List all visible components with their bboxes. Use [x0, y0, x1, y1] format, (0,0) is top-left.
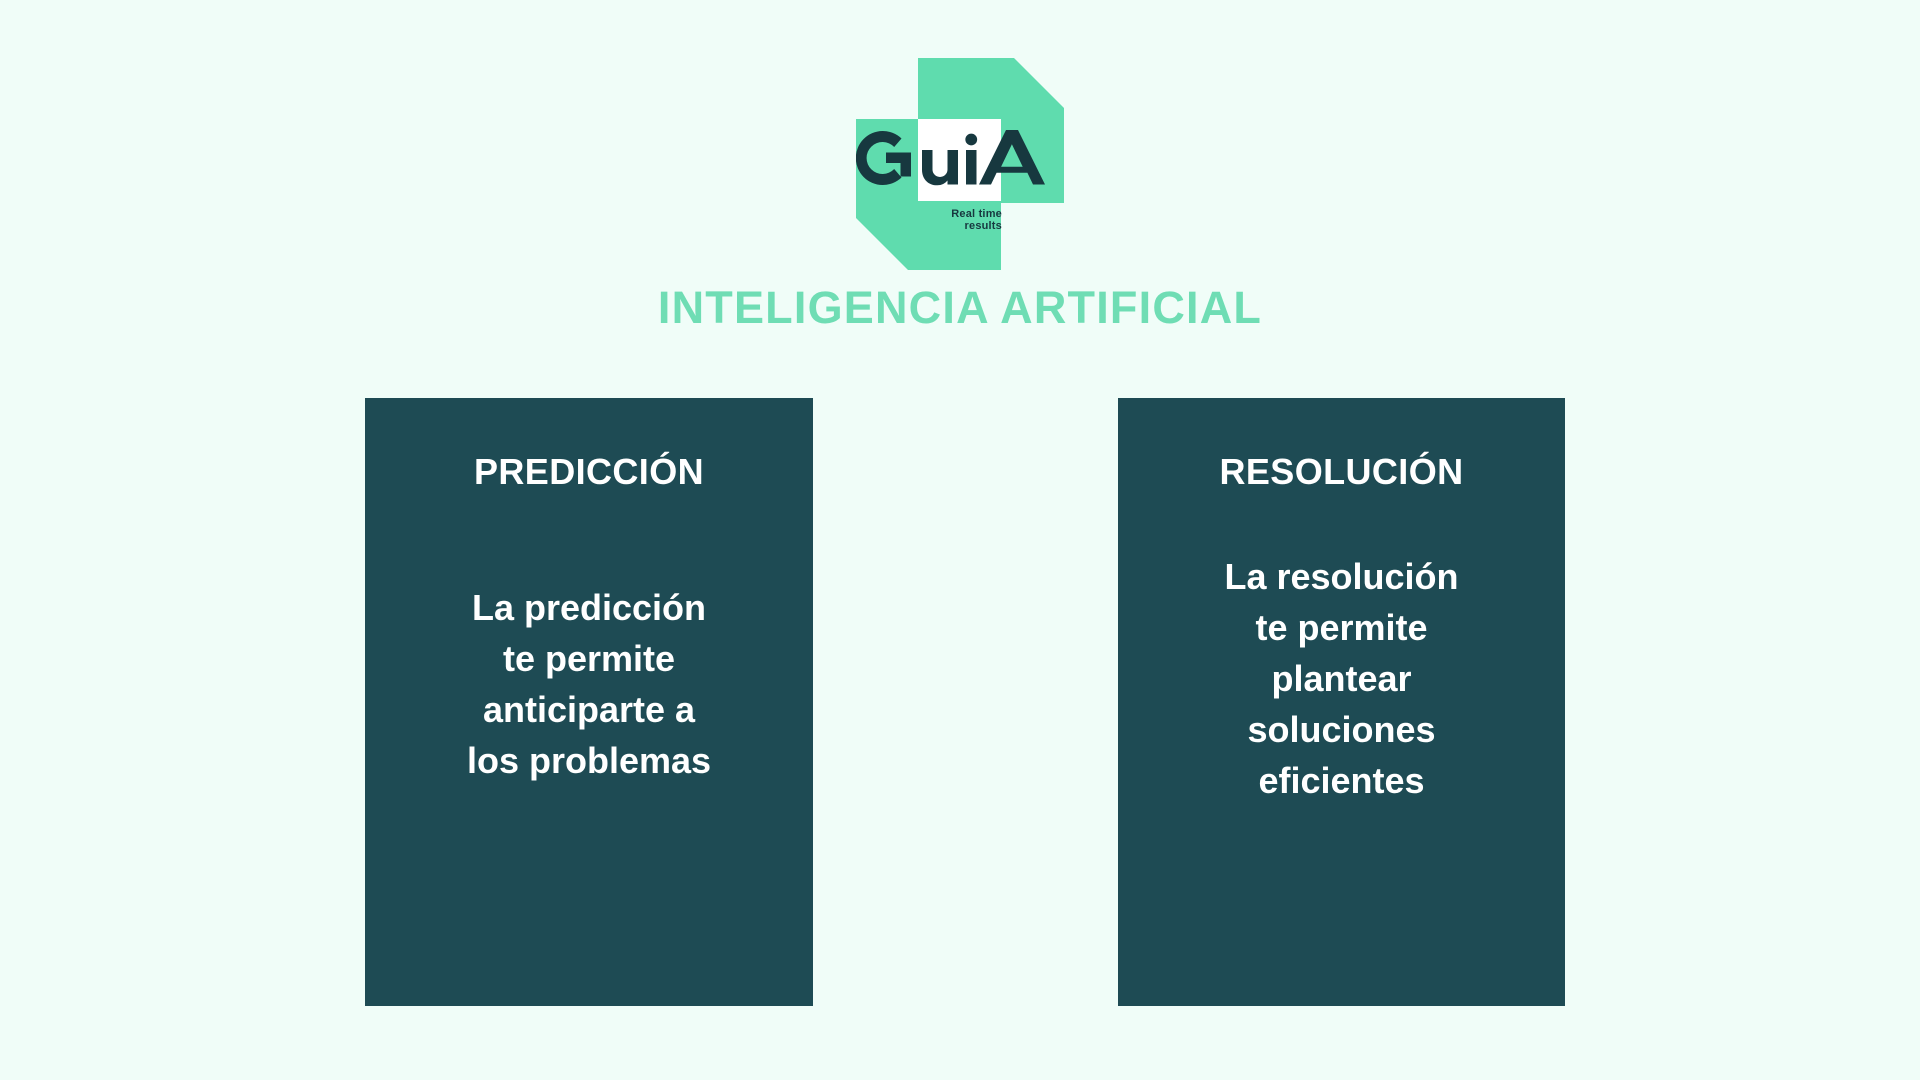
card-resolucion[interactable]: RESOLUCIÓN La resolución te permite plan… [1118, 398, 1565, 1006]
card-title-prediccion: PREDICCIÓN [474, 450, 704, 494]
card-body-resolucion: La resolución te permite plantear soluci… [1224, 551, 1458, 806]
slide-canvas: Real time results INTELIGENCIA ARTIFICIA… [0, 0, 1920, 1080]
card-prediccion[interactable]: PREDICCIÓN La predicción te permite anti… [365, 398, 813, 1006]
guia-logo[interactable]: Real time results [856, 58, 1064, 270]
logo-tagline: Real time results [951, 208, 1002, 232]
logo-block: Real time results [0, 58, 1920, 270]
guia-wordmark-icon [856, 110, 1064, 206]
page-title: INTELIGENCIA ARTIFICIAL [0, 282, 1920, 334]
cards-container: PREDICCIÓN La predicción te permite anti… [365, 398, 1565, 1006]
card-title-resolucion: RESOLUCIÓN [1219, 450, 1463, 494]
card-body-prediccion: La predicción te permite anticiparte a l… [467, 582, 711, 786]
